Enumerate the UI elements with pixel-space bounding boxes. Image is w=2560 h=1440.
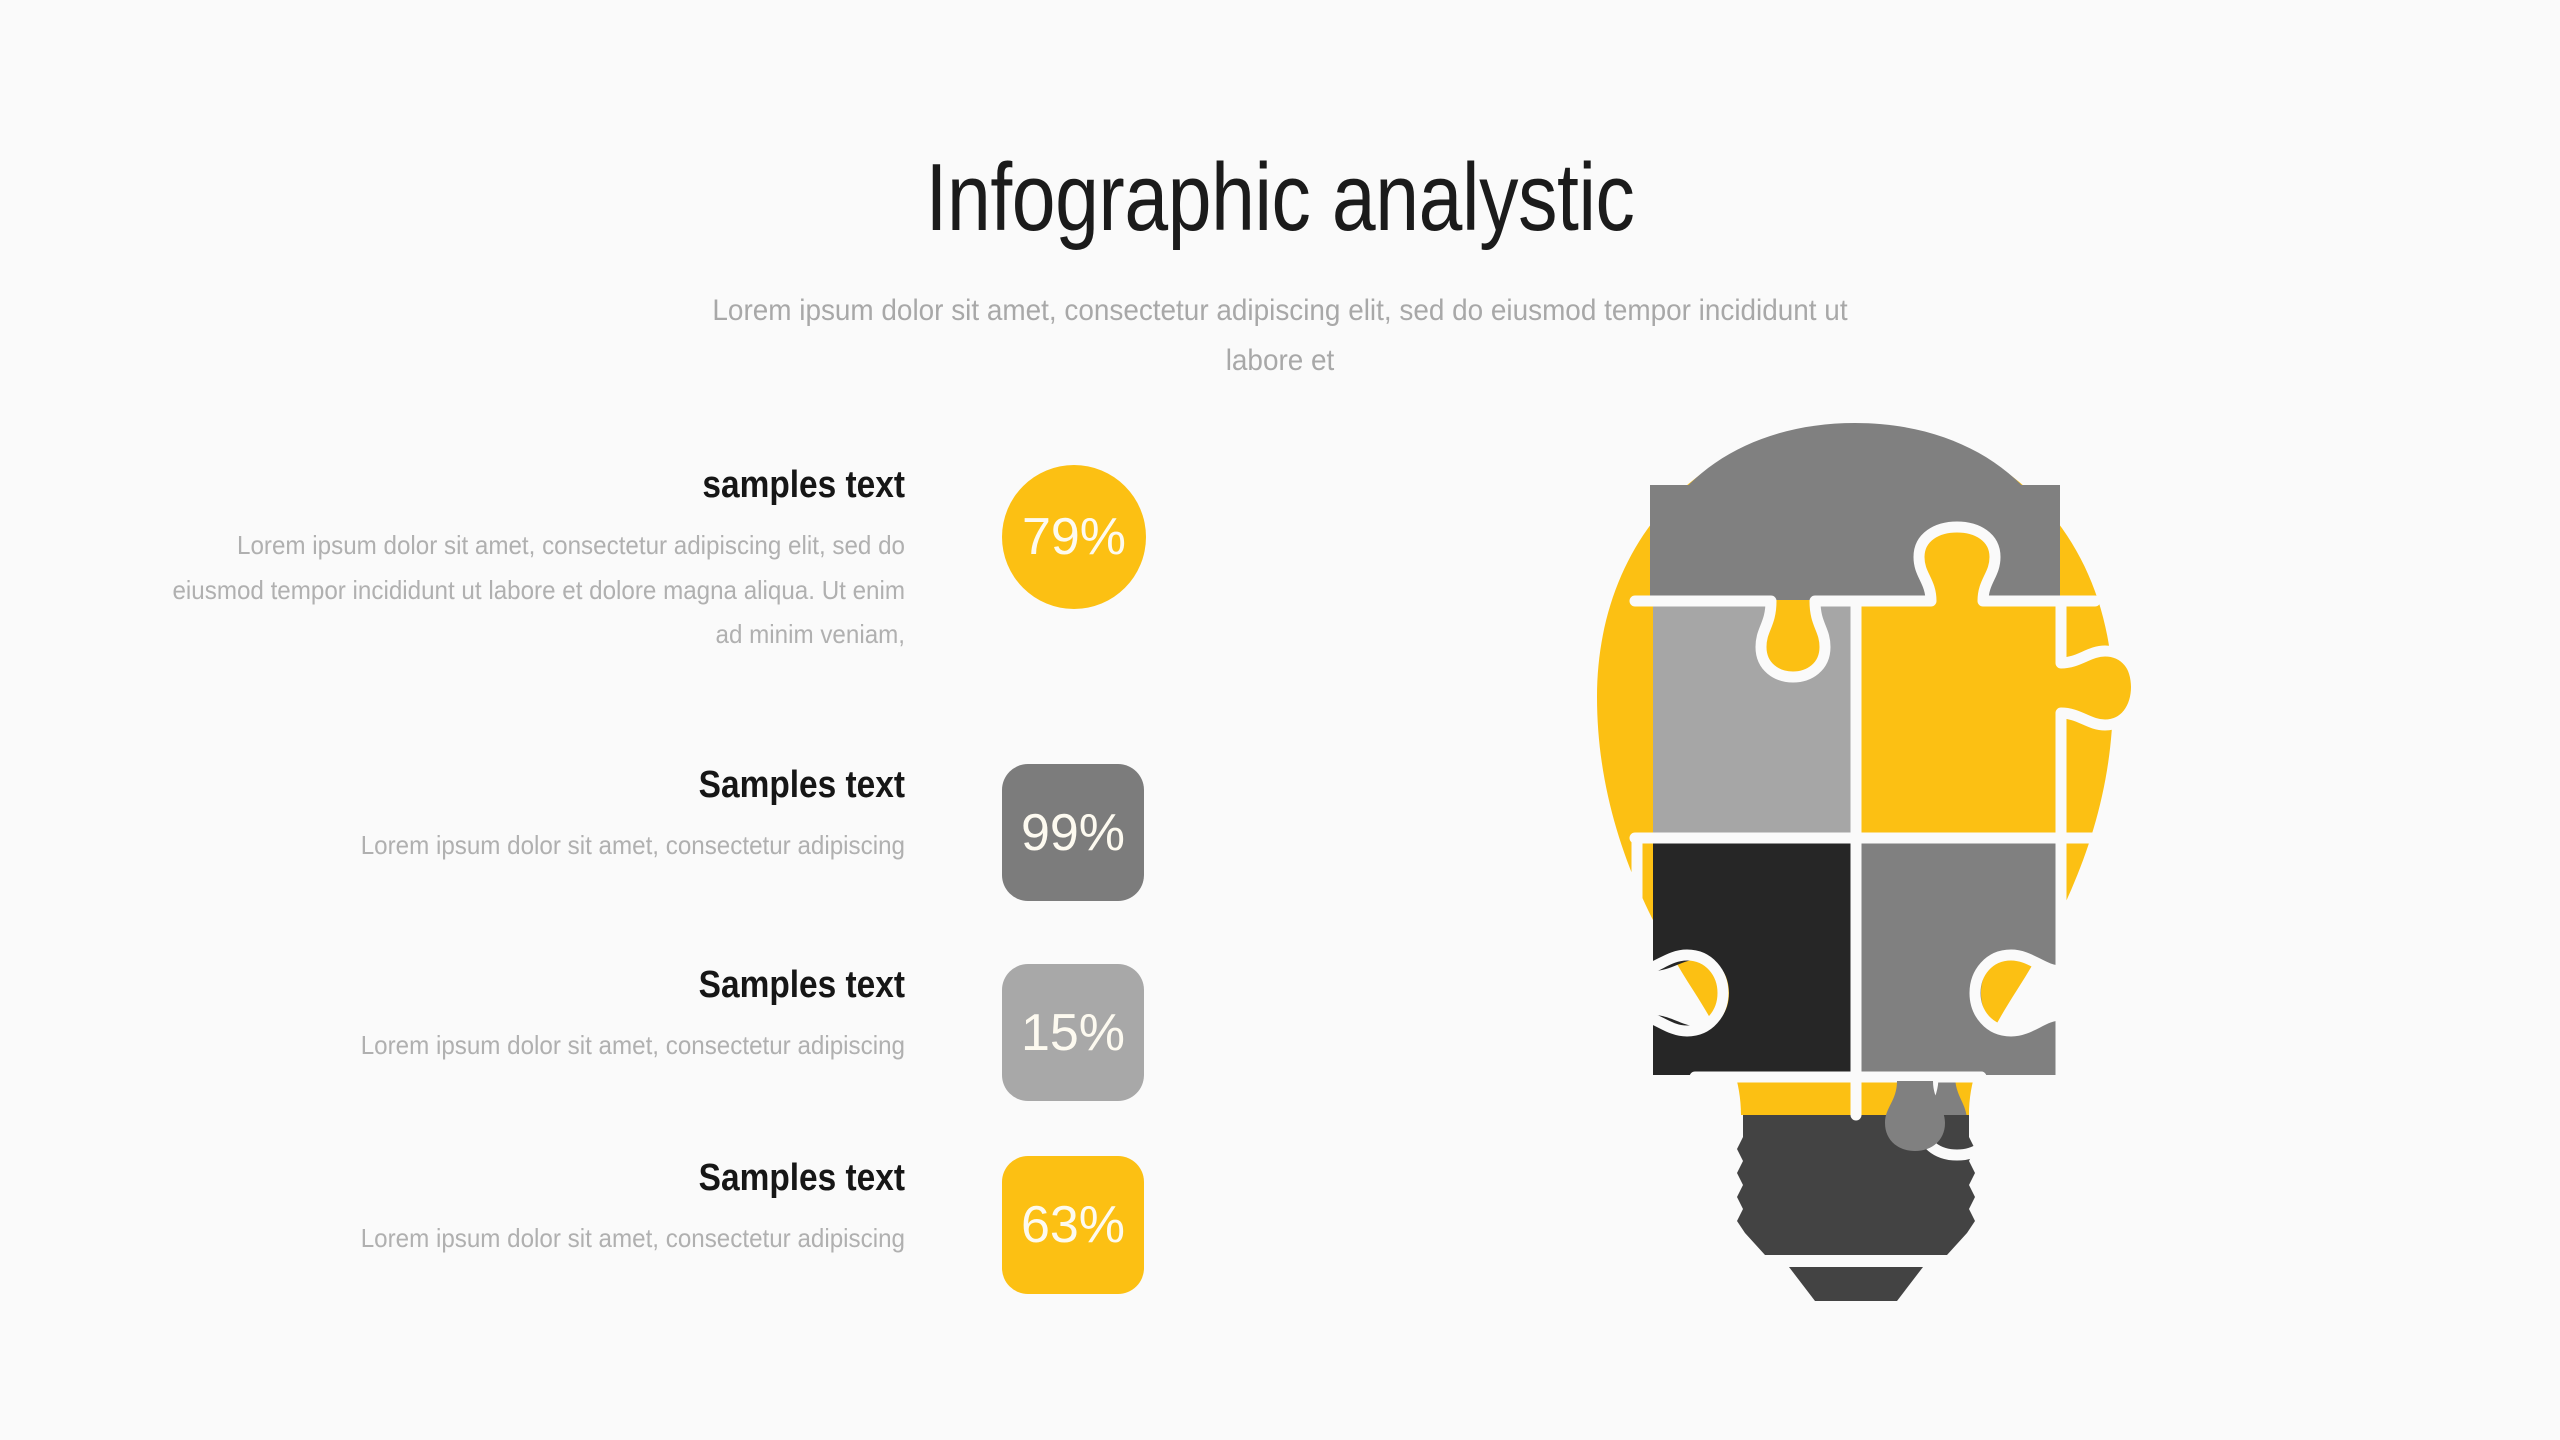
header: Infographic analystic Lorem ipsum dolor …	[0, 150, 2560, 385]
item-heading: Samples text	[201, 765, 905, 807]
percent-value: 99%	[1021, 803, 1125, 863]
item-body: Lorem ipsum dolor sit amet, consectetur …	[161, 523, 905, 657]
percent-badge[interactable]: 99%	[1002, 764, 1144, 901]
percent-value: 63%	[1021, 1195, 1125, 1255]
base-gap	[1789, 1255, 1923, 1267]
percent-badge[interactable]: 79%	[1002, 465, 1146, 609]
item-heading: Samples text	[201, 1158, 905, 1200]
percent-badge[interactable]: 15%	[1002, 964, 1144, 1101]
item-body: Lorem ipsum dolor sit amet, consectetur …	[161, 1216, 905, 1261]
page-subtitle: Lorem ipsum dolor sit amet, consectetur …	[703, 286, 1856, 385]
item-text-block: Samples text Lorem ipsum dolor sit amet,…	[105, 1158, 905, 1261]
infographic-slide: Infographic analystic Lorem ipsum dolor …	[0, 0, 2560, 1440]
lightbulb-puzzle-icon	[1575, 415, 2135, 1325]
item-text-block: samples text Lorem ipsum dolor sit amet,…	[105, 465, 905, 657]
percent-value: 15%	[1021, 1003, 1125, 1063]
item-body: Lorem ipsum dolor sit amet, consectetur …	[161, 823, 905, 868]
bulb-cap-dome	[1650, 423, 2060, 543]
page-title: Infographic analystic	[230, 150, 2329, 246]
percent-value: 79%	[1022, 507, 1126, 567]
item-text-block: Samples text Lorem ipsum dolor sit amet,…	[105, 965, 905, 1068]
percent-badge[interactable]: 63%	[1002, 1156, 1144, 1294]
item-heading: Samples text	[201, 965, 905, 1007]
item-text-block: Samples text Lorem ipsum dolor sit amet,…	[105, 765, 905, 868]
item-heading: samples text	[201, 465, 905, 507]
bulb-contact-tip	[1789, 1267, 1923, 1301]
item-body: Lorem ipsum dolor sit amet, consectetur …	[161, 1023, 905, 1068]
